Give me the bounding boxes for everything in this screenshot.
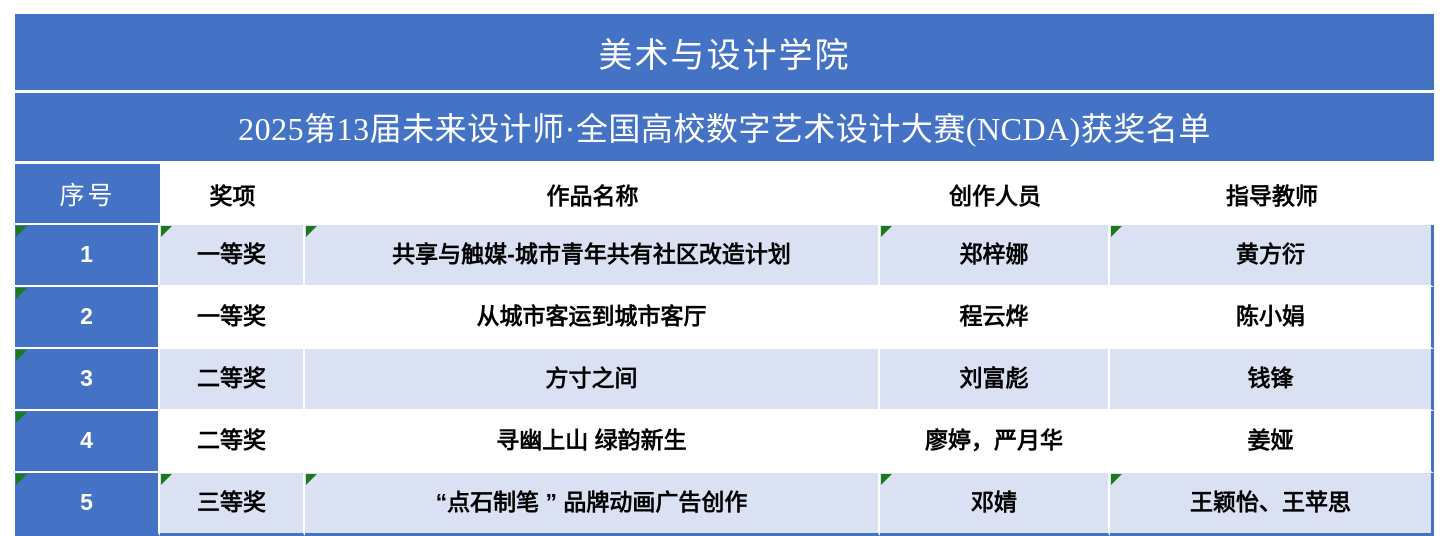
header-award[interactable]: 奖项 — [160, 164, 305, 225]
cell-award-text: 三等奖 — [160, 490, 303, 515]
cell-index[interactable]: 2 — [15, 287, 160, 349]
cell-index-text: 5 — [15, 490, 158, 515]
cell-advisors-text: 钱锋 — [1110, 366, 1431, 391]
cell-award-text: 二等奖 — [160, 366, 303, 391]
cell-creators-text: 廖婷，严月华 — [880, 428, 1108, 453]
cell-work-title[interactable]: 从城市客运到城市客厅 — [305, 287, 880, 349]
cell-index-text: 2 — [15, 304, 158, 329]
cell-advisors-text: 姜娅 — [1110, 428, 1431, 453]
header-creators[interactable]: 创作人员 — [880, 164, 1110, 225]
cell-index-text: 4 — [15, 428, 158, 453]
college-title: 美术与设计学院 — [15, 14, 1434, 93]
cell-award[interactable]: 一等奖 — [160, 287, 305, 349]
cell-work-title[interactable]: “点石制笔 ” 品牌动画广告创作 — [305, 473, 880, 536]
cell-advisors[interactable]: 陈小娟 — [1110, 287, 1434, 349]
cell-advisors-text: 黄方衍 — [1110, 242, 1431, 267]
cell-work-title[interactable]: 寻幽上山 绿韵新生 — [305, 411, 880, 473]
cell-award[interactable]: 三等奖 — [160, 473, 305, 536]
cell-work-title-text: 方寸之间 — [305, 366, 878, 391]
header-index[interactable]: 序号 — [15, 164, 160, 225]
cell-creators-text: 程云烨 — [880, 304, 1108, 329]
cell-creators[interactable]: 邓婧 — [880, 473, 1110, 536]
comment-flag-icon — [1111, 226, 1122, 237]
comment-flag-icon — [161, 474, 172, 485]
comment-flag-icon — [306, 226, 317, 237]
cell-award-text: 一等奖 — [160, 304, 303, 329]
cell-creators[interactable]: 刘富彪 — [880, 349, 1110, 411]
cell-work-title[interactable]: 方寸之间 — [305, 349, 880, 411]
cell-work-title-text: 共享与触媒-城市青年共有社区改造计划 — [305, 242, 878, 267]
table-row: 2 一等奖 从城市客运到城市客厅 程云烨 陈小娟 — [15, 287, 1434, 349]
cell-advisors-text: 王颖怡、王苹思 — [1110, 490, 1431, 515]
cell-creators-text: 邓婧 — [880, 490, 1108, 515]
column-header-row: 序号 奖项 作品名称 创作人员 指导教师 — [15, 164, 1434, 225]
cell-award[interactable]: 二等奖 — [160, 349, 305, 411]
cell-advisors[interactable]: 王颖怡、王苹思 — [1110, 473, 1434, 536]
cell-award-text: 一等奖 — [160, 242, 303, 267]
cell-award[interactable]: 一等奖 — [160, 225, 305, 287]
comment-flag-icon — [16, 226, 27, 237]
cell-award[interactable]: 二等奖 — [160, 411, 305, 473]
cell-index-text: 1 — [15, 242, 158, 267]
cell-index[interactable]: 5 — [15, 473, 160, 536]
table-row: 4 二等奖 寻幽上山 绿韵新生 廖婷，严月华 姜娅 — [15, 411, 1434, 473]
cell-index-text: 3 — [15, 366, 158, 391]
cell-creators[interactable]: 郑梓娜 — [880, 225, 1110, 287]
award-table: 美术与设计学院 2025第13届未来设计师·全国高校数字艺术设计大赛(NCDA)… — [15, 14, 1434, 536]
cell-work-title-text: “点石制笔 ” 品牌动画广告创作 — [305, 490, 878, 515]
spreadsheet-canvas: 美术与设计学院 2025第13届未来设计师·全国高校数字艺术设计大赛(NCDA)… — [0, 0, 1450, 536]
cell-advisors-text: 陈小娟 — [1110, 304, 1431, 329]
cell-creators[interactable]: 廖婷，严月华 — [880, 411, 1110, 473]
cell-work-title-text: 寻幽上山 绿韵新生 — [305, 428, 878, 453]
contest-banner-row: 2025第13届未来设计师·全国高校数字艺术设计大赛(NCDA)获奖名单 — [15, 93, 1434, 164]
cell-work-title-text: 从城市客运到城市客厅 — [305, 304, 878, 329]
comment-flag-icon — [16, 288, 27, 299]
cell-advisors[interactable]: 钱锋 — [1110, 349, 1434, 411]
comment-flag-icon — [881, 226, 892, 237]
comment-flag-icon — [1111, 474, 1122, 485]
comment-flag-icon — [161, 226, 172, 237]
cell-advisors[interactable]: 黄方衍 — [1110, 225, 1434, 287]
table-row: 3 二等奖 方寸之间 刘富彪 钱锋 — [15, 349, 1434, 411]
cell-advisors[interactable]: 姜娅 — [1110, 411, 1434, 473]
comment-flag-icon — [881, 474, 892, 485]
table-row: 5 三等奖 “点石制笔 ” 品牌动画广告创作 邓婧 — [15, 473, 1434, 536]
table-row: 1 一等奖 共享与触媒-城市青年共有社区改造计划 郑梓娜 — [15, 225, 1434, 287]
cell-index[interactable]: 4 — [15, 411, 160, 473]
header-advisors[interactable]: 指导教师 — [1110, 164, 1434, 225]
cell-work-title[interactable]: 共享与触媒-城市青年共有社区改造计划 — [305, 225, 880, 287]
comment-flag-icon — [16, 350, 27, 361]
comment-flag-icon — [16, 412, 27, 423]
comment-flag-icon — [306, 474, 317, 485]
cell-award-text: 二等奖 — [160, 428, 303, 453]
cell-creators-text: 郑梓娜 — [880, 242, 1108, 267]
comment-flag-icon — [16, 474, 27, 485]
cell-index[interactable]: 1 — [15, 225, 160, 287]
header-work-title[interactable]: 作品名称 — [305, 164, 880, 225]
cell-creators[interactable]: 程云烨 — [880, 287, 1110, 349]
cell-creators-text: 刘富彪 — [880, 366, 1108, 391]
contest-title: 2025第13届未来设计师·全国高校数字艺术设计大赛(NCDA)获奖名单 — [15, 93, 1434, 164]
award-table-container: 美术与设计学院 2025第13届未来设计师·全国高校数字艺术设计大赛(NCDA)… — [15, 14, 1434, 523]
cell-index[interactable]: 3 — [15, 349, 160, 411]
college-banner-row: 美术与设计学院 — [15, 14, 1434, 93]
